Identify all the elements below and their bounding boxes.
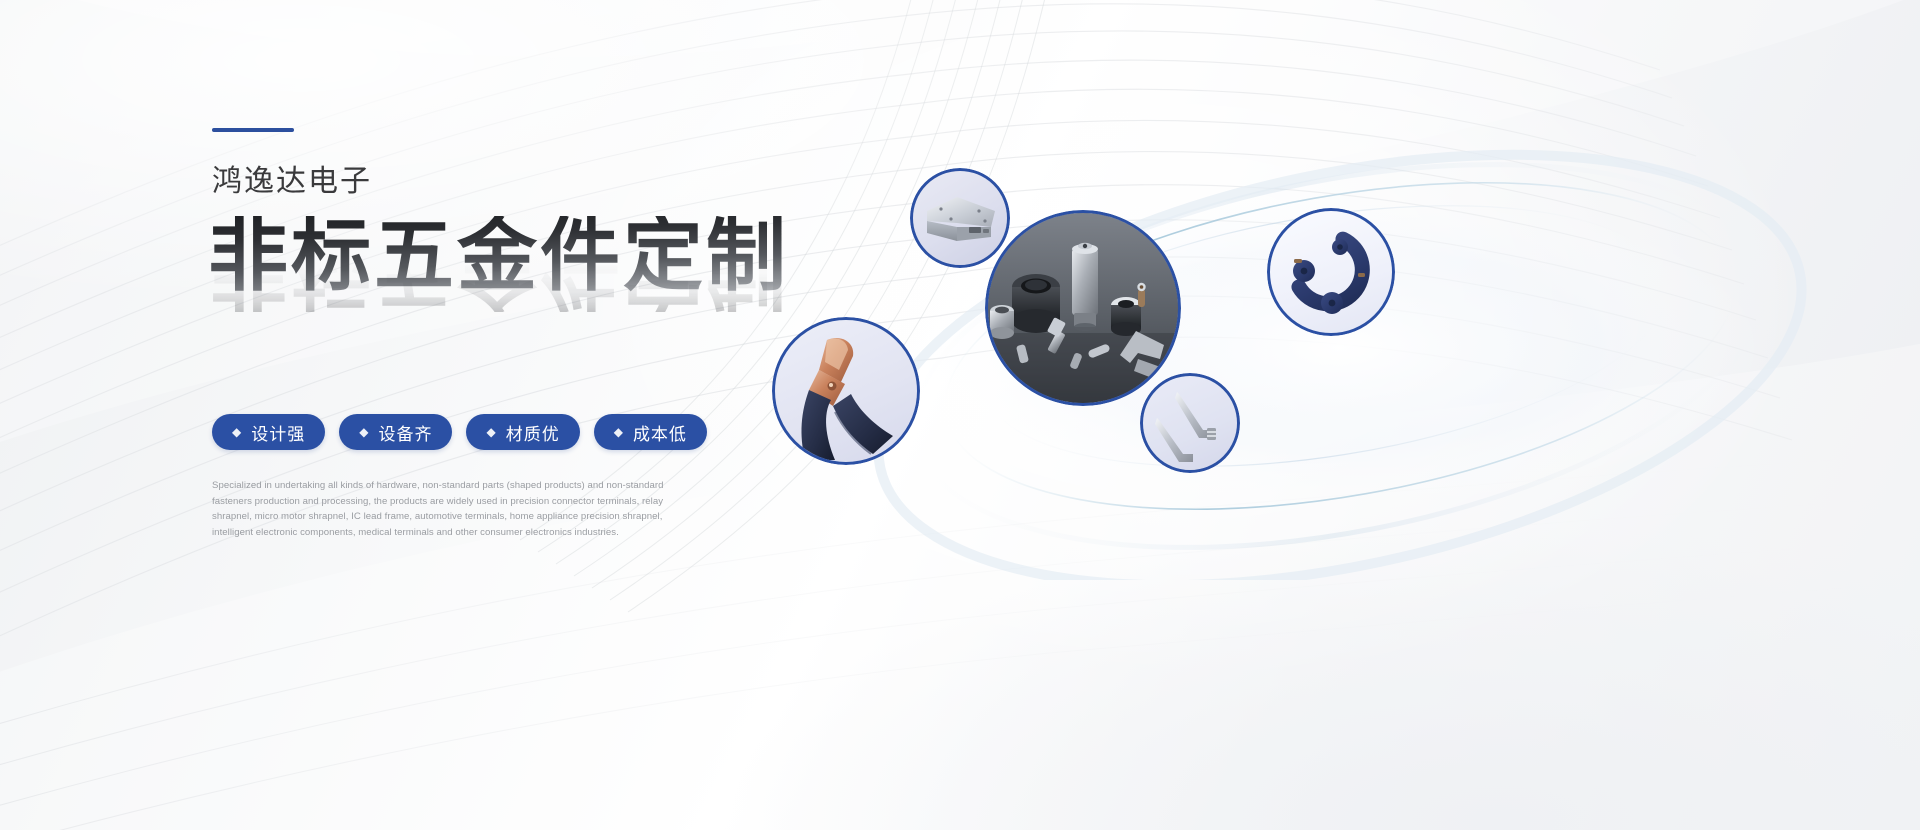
diamond-icon: ◆ [359, 426, 369, 438]
bubble-image-precision-connectors [988, 213, 1178, 403]
pill-design[interactable]: ◆ 设计强 [212, 414, 325, 450]
diamond-icon: ◆ [486, 426, 496, 438]
diamond-icon: ◆ [614, 426, 624, 438]
product-visual [740, 120, 1920, 580]
accent-bar [212, 128, 294, 132]
company-description: Specialized in undertaking all kinds of … [212, 478, 682, 540]
hero-banner: 鸿逸达电子 非标五金件定制 非标五金件定制 ◆ 设计强 ◆ 设备齐 ◆ 材质优 … [0, 0, 1920, 830]
pill-design-label: 设计强 [251, 420, 305, 445]
bubble-image-metal-enclosure [913, 171, 1007, 265]
bubble-image-battery-clamp [775, 320, 917, 462]
pill-equipment-label: 设备齐 [378, 420, 432, 445]
bubble-image-hex-keys [1143, 376, 1237, 470]
bubble-metal-enclosure[interactable] [910, 168, 1010, 268]
pill-equipment[interactable]: ◆ 设备齐 [339, 414, 452, 450]
diamond-icon: ◆ [232, 426, 242, 438]
bubble-hex-keys[interactable] [1140, 373, 1240, 473]
bubble-retaining-ring[interactable] [1267, 208, 1395, 336]
pill-material[interactable]: ◆ 材质优 [466, 414, 579, 450]
bubble-battery-clamp[interactable] [772, 317, 920, 465]
bubble-image-retaining-ring [1270, 211, 1392, 333]
pill-material-label: 材质优 [506, 420, 560, 445]
pill-cost[interactable]: ◆ 成本低 [594, 414, 707, 450]
page-title-reflection: 非标五金件定制 [208, 232, 789, 312]
pill-cost-label: 成本低 [633, 420, 687, 445]
